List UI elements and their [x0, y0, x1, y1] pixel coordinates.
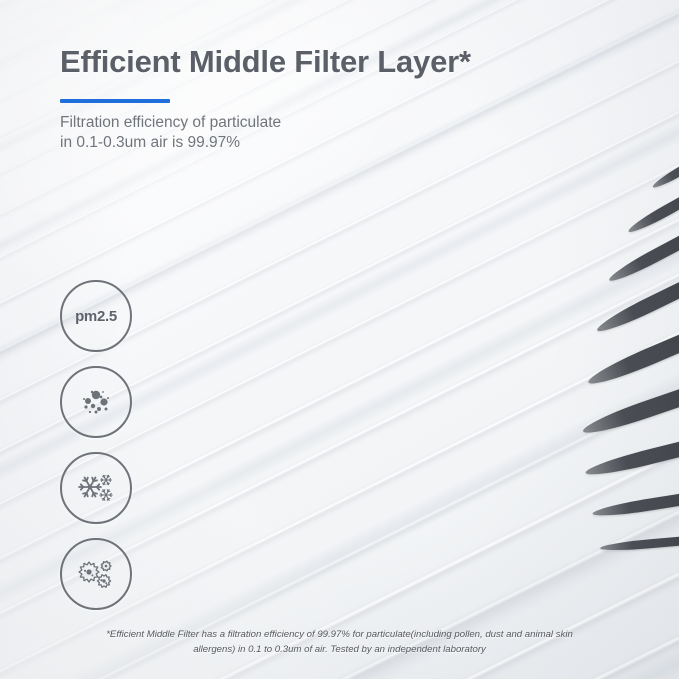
footnote: *Efficient Middle Filter has a filtratio…	[0, 627, 679, 657]
feature-badge-pm25: pm2.5	[60, 280, 132, 352]
footnote-line-1: *Efficient Middle Filter has a filtratio…	[0, 627, 679, 642]
feature-badge-dust	[60, 366, 132, 438]
subtitle-line-1: Filtration efficiency of particulate	[60, 113, 281, 133]
pollen-spore-icon	[73, 551, 119, 597]
page-title: Efficient Middle Filter Layer*	[60, 44, 471, 80]
subtitle-line-2: in 0.1-0.3um air is 99.97%	[60, 133, 281, 153]
product-feature-banner: Efficient Middle Filter Layer* Filtratio…	[0, 0, 679, 679]
feature-badge-pollen	[60, 538, 132, 610]
dust-particles-icon	[73, 379, 119, 425]
snowflake-icon	[73, 465, 119, 511]
feature-badge-snowflake	[60, 452, 132, 524]
accent-bar	[60, 99, 170, 103]
pm25-text-icon: pm2.5	[75, 308, 117, 325]
footnote-line-2: allergens) in 0.1 to 0.3um of air. Teste…	[0, 642, 679, 657]
subtitle: Filtration efficiency of particulate in …	[60, 113, 281, 153]
